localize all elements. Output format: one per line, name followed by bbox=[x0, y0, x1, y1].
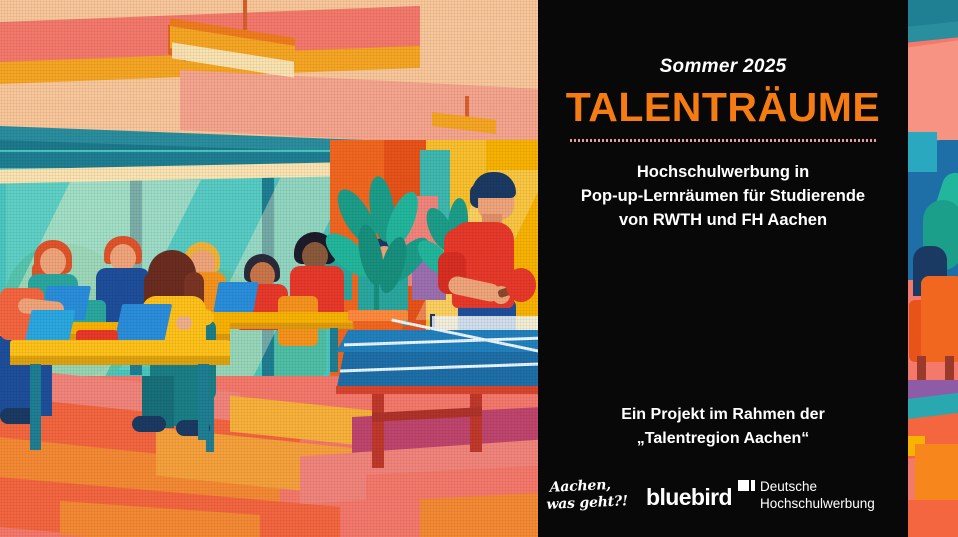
logo-aachen-was-geht: Aachen, was geht?! bbox=[549, 476, 628, 513]
project-line-2: „Talentregion Aachen“ bbox=[552, 427, 894, 451]
project-line-1: Ein Projekt im Rahmen der bbox=[552, 403, 894, 427]
strip-floor-coral-2 bbox=[907, 500, 958, 537]
logo-dhw-line-2: Hochschulwerbung bbox=[760, 495, 875, 512]
strip-armchair bbox=[921, 276, 958, 362]
season-label: Sommer 2025 bbox=[538, 56, 908, 78]
logo-dhw-line-1: Deutsche bbox=[760, 478, 817, 495]
project-note: Ein Projekt im Rahmen der „Talentregion … bbox=[552, 403, 894, 451]
right-edge-illustration-strip bbox=[907, 0, 958, 537]
logo-aachen-line-2: was geht?! bbox=[546, 493, 628, 514]
scene-illustration bbox=[0, 0, 540, 537]
subtitle-line-1: Hochschulwerbung in bbox=[552, 160, 894, 184]
dhw-square-icon bbox=[738, 480, 749, 491]
poster: Sommer 2025 TALENTRÄUME Hochschulwerbung… bbox=[0, 0, 958, 537]
logo-bluebird: bluebird bbox=[646, 484, 732, 511]
text-panel: Sommer 2025 TALENTRÄUME Hochschulwerbung… bbox=[538, 0, 908, 537]
subtitle-line-3: von RWTH und FH Aachen bbox=[552, 208, 894, 232]
subtitle: Hochschulwerbung in Pop-up-Lernräumen fü… bbox=[552, 160, 894, 232]
illustration-grain-overlay bbox=[0, 0, 540, 537]
title-divider bbox=[570, 139, 876, 142]
subtitle-line-2: Pop-up-Lernräumen für Studierende bbox=[552, 184, 894, 208]
dhw-bar-icon bbox=[751, 480, 755, 491]
logo-row: Aachen, was geht?! bluebird Deutsche Hoc… bbox=[538, 474, 908, 530]
page-title: TALENTRÄUME bbox=[538, 84, 908, 130]
deutsche-hochschulwerbung-mark-icon bbox=[738, 480, 758, 492]
strip-accent-teal bbox=[907, 132, 937, 172]
